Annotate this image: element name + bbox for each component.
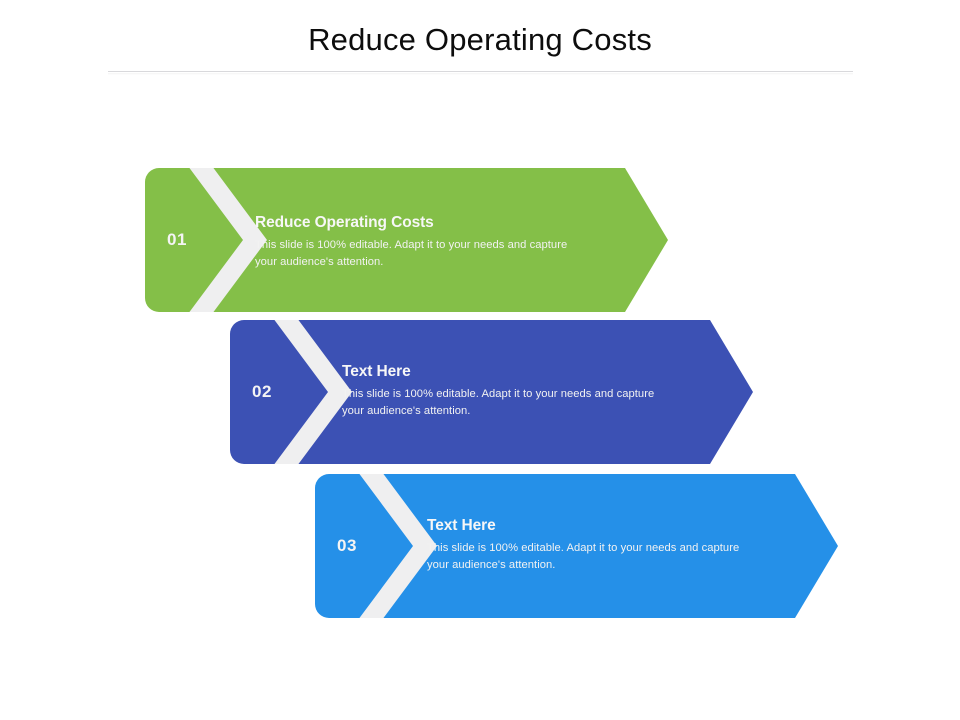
row-number-03: 03 — [323, 536, 371, 556]
row-heading-02: Text Here — [342, 362, 672, 382]
row-description-02: This slide is 100% editable. Adapt it to… — [342, 386, 672, 420]
arrow-row-03[interactable]: 03 Text Here This slide is 100% editable… — [315, 474, 845, 618]
row-description-01: This slide is 100% editable. Adapt it to… — [255, 237, 585, 271]
row-content-03: Text Here This slide is 100% editable. A… — [427, 516, 757, 574]
slide-canvas: Reduce Operating Costs 01 Reduce Operati… — [0, 0, 960, 720]
row-number-02: 02 — [238, 382, 286, 402]
row-content-02: Text Here This slide is 100% editable. A… — [342, 362, 672, 420]
row-description-03: This slide is 100% editable. Adapt it to… — [427, 540, 757, 574]
row-heading-01: Reduce Operating Costs — [255, 213, 585, 233]
arrow-row-02[interactable]: 02 Text Here This slide is 100% editable… — [230, 320, 760, 464]
title-divider — [108, 71, 853, 72]
row-heading-03: Text Here — [427, 516, 757, 536]
page-title: Reduce Operating Costs — [0, 20, 960, 60]
row-content-01: Reduce Operating Costs This slide is 100… — [255, 213, 585, 271]
title-divider-shadow — [108, 73, 853, 75]
arrow-row-01[interactable]: 01 Reduce Operating Costs This slide is … — [145, 168, 675, 312]
row-number-01: 01 — [153, 230, 201, 250]
